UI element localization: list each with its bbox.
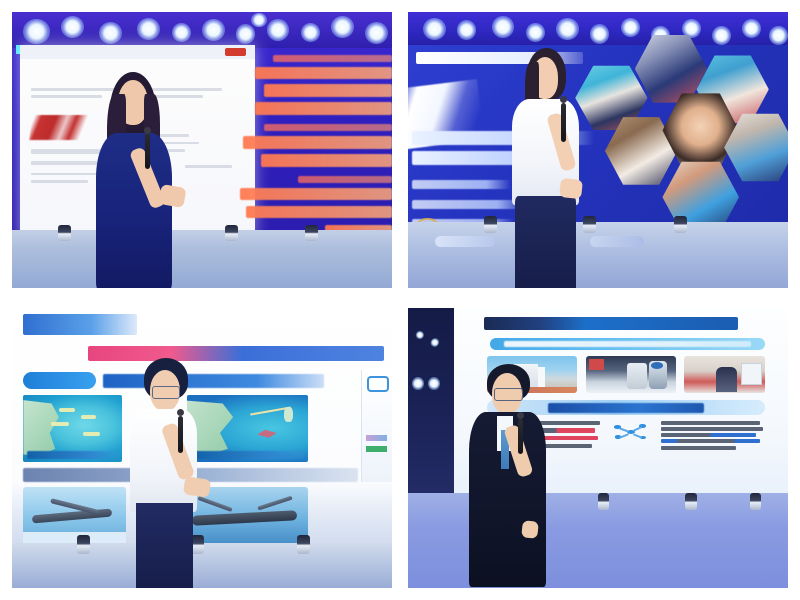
stage-lamp-icon [769, 26, 788, 45]
collage-panel-top-right [400, 0, 800, 300]
stage-lamp-icon [172, 23, 191, 42]
laboratory-photo [586, 356, 676, 393]
stage-lamp-icon [556, 18, 579, 40]
collage-panel-bottom-right [400, 300, 800, 600]
sidebar-icon [367, 376, 389, 391]
moving-head-light-icon [225, 225, 238, 242]
stage-lamp-icon [712, 26, 731, 45]
hexagon-photo-collage [575, 53, 788, 224]
presenter-figure [499, 45, 598, 288]
slide-tag-badge [23, 372, 95, 389]
collage-panel-top-left [0, 0, 400, 300]
aircraft-fuselage [31, 508, 111, 523]
molecule-icon [614, 424, 647, 441]
stage-lamp-icon [412, 377, 424, 390]
stage-lamp-icon [301, 23, 320, 42]
stage-lamp-icon [428, 377, 440, 390]
eyeglasses-icon [152, 386, 180, 399]
stage-lamp-icon [99, 22, 122, 44]
stage-dark-wing [408, 308, 457, 498]
slide-subheading-text [548, 403, 703, 412]
stage-lamp-icon [365, 22, 388, 44]
stage-lamp-icon [429, 337, 440, 349]
stage-lamp-icon [423, 18, 446, 40]
moving-head-light-icon [674, 216, 687, 233]
slide-side-panel [361, 370, 392, 482]
slide-header-bar [20, 45, 256, 59]
stage-lamp-icon [526, 23, 545, 42]
moving-head-light-icon [77, 535, 90, 555]
slide-banner-text [504, 341, 751, 347]
map-graphic-south-china-sea [23, 395, 122, 462]
led-wall-text-block [240, 51, 392, 250]
stage-floor [408, 222, 788, 288]
stage-photo-bottom-right [408, 308, 788, 588]
stage-lamp-icon [621, 18, 640, 37]
collage-panel-bottom-left [0, 300, 400, 600]
map-caption [27, 451, 118, 460]
slide-title-clinical-test [484, 317, 738, 330]
stage-photo-top-right [408, 12, 788, 288]
stage-lamp-icon [202, 19, 225, 41]
slide-section-title [23, 314, 137, 335]
presenter-figure [118, 358, 217, 588]
aircraft-rotor [258, 495, 294, 510]
slide-text-column-right [661, 421, 765, 451]
stage-step-panel [590, 236, 643, 247]
moving-head-light-icon [58, 225, 71, 242]
moving-head-light-icon [598, 493, 609, 510]
slide-blue-banner [490, 338, 764, 351]
stage-lamp-icon [590, 24, 609, 43]
eyeglasses-icon [494, 388, 524, 401]
aircraft-photo-left [23, 487, 126, 549]
moving-head-light-icon [685, 493, 696, 510]
stage-lamp-icon [251, 13, 266, 27]
moving-head-light-icon [750, 493, 761, 510]
stage-lamp-icon [267, 19, 290, 41]
stage-photo-bottom-left [12, 308, 392, 588]
presenter-figure [461, 364, 560, 582]
clinical-corridor-photo [684, 356, 764, 393]
stage-lamp-icon [236, 24, 255, 43]
stage-lamp-icon [457, 20, 476, 39]
stage-lamp-icon [137, 18, 160, 40]
stage-lamp-icon [414, 329, 425, 340]
stage-step-panel [435, 236, 496, 247]
stage-photo-top-left [12, 12, 392, 288]
presenter-figure [80, 67, 194, 288]
moving-head-light-icon [305, 225, 318, 242]
photo-collage [0, 0, 800, 600]
moving-head-light-icon [297, 535, 310, 555]
moving-head-light-icon [484, 216, 497, 233]
stage-lamp-icon [23, 19, 50, 44]
headline-line-3 [412, 180, 511, 189]
